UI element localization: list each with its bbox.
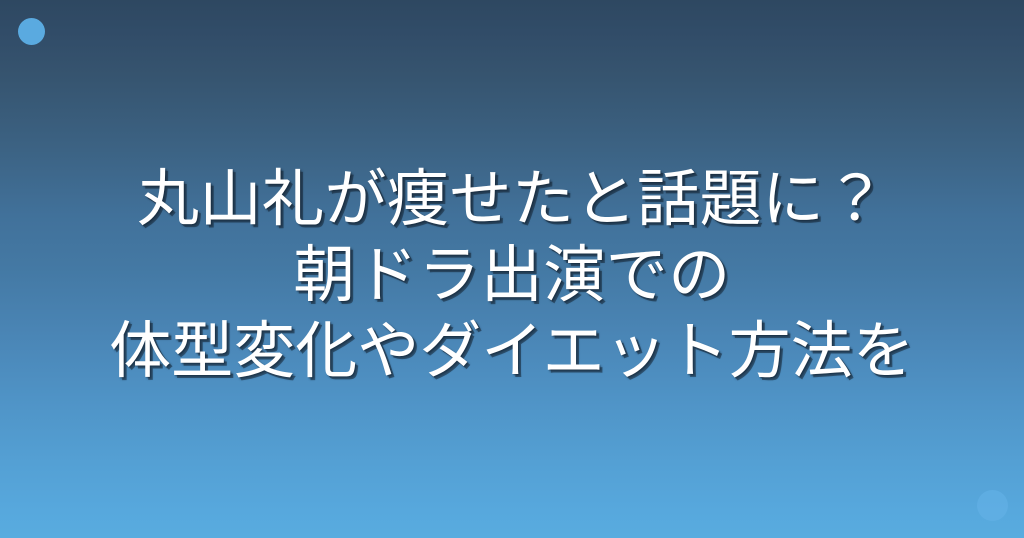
title-card: 丸山礼が痩せたと話題に？ 朝ドラ出演での 体型変化やダイエット方法を: [0, 0, 1024, 538]
headline-line-2: 朝ドラ出演での: [293, 237, 731, 313]
headline-line-1: 丸山礼が痩せたと話題に？: [137, 161, 887, 237]
decorative-circle-bottom-right-icon: [977, 490, 1008, 521]
headline-line-3: 体型変化やダイエット方法を: [109, 313, 914, 389]
headline-block: 丸山礼が痩せたと話題に？ 朝ドラ出演での 体型変化やダイエット方法を: [0, 0, 1024, 538]
decorative-circle-top-left-icon: [18, 18, 45, 45]
